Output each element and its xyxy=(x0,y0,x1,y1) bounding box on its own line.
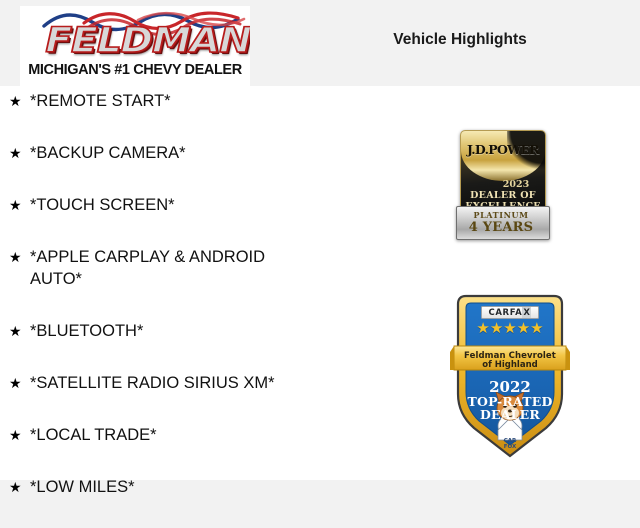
jd-power-year: 2023 xyxy=(461,179,545,190)
jd-power-line1: DEALER OF xyxy=(461,190,545,201)
star-bullet-icon: ★ xyxy=(9,424,22,446)
page-title: Vehicle Highlights xyxy=(330,31,590,49)
jd-power-badge: J.D.POWER 2023 DEALER OF EXCELLENCE PLAT… xyxy=(456,130,548,238)
award-badges: J.D.POWER 2023 DEALER OF EXCELLENCE PLAT… xyxy=(440,110,600,470)
list-item-label: *SATELLITE RADIO SIRIUS XM* xyxy=(30,372,340,394)
list-item: ★ *REMOTE START* xyxy=(0,90,340,142)
jd-power-wordmark: J.D.POWER xyxy=(461,142,545,157)
vehicle-highlights-page: FELDMAN MICHIGAN'S #1 CHEVY DEALER Vehic… xyxy=(0,0,640,480)
list-item-label: *BLUETOOTH* xyxy=(30,320,340,342)
header-band: FELDMAN MICHIGAN'S #1 CHEVY DEALER Vehic… xyxy=(0,0,640,86)
list-item: ★ *APPLE CARPLAY & ANDROID AUTO* xyxy=(0,246,340,320)
list-item-label: *TOUCH SCREEN* xyxy=(30,194,340,216)
star-bullet-icon: ★ xyxy=(9,372,22,394)
dealer-logo: FELDMAN MICHIGAN'S #1 CHEVY DEALER xyxy=(20,6,250,86)
list-item-label: *LOW MILES* xyxy=(30,476,340,498)
list-item-label: *BACKUP CAMERA* xyxy=(30,142,340,164)
logo-tagline: MICHIGAN'S #1 CHEVY DEALER xyxy=(20,62,250,78)
list-item: ★ *LOW MILES* xyxy=(0,476,340,528)
list-item: ★ *BACKUP CAMERA* xyxy=(0,142,340,194)
list-item: ★ *SATELLITE RADIO SIRIUS XM* xyxy=(0,372,340,424)
list-item: ★ *TOUCH SCREEN* xyxy=(0,194,340,246)
vehicle-highlights-list: ★ *REMOTE START* ★ *BACKUP CAMERA* ★ *TO… xyxy=(0,90,340,528)
list-item-label: *LOCAL TRADE* xyxy=(30,424,340,446)
carfax-shield-shape xyxy=(450,290,570,462)
carfax-badge: CARFAX ★★★★★ Feldman Chevrolet of Highla… xyxy=(450,290,570,462)
car-fox-mascot xyxy=(496,392,524,440)
list-item: ★ *LOCAL TRADE* xyxy=(0,424,340,476)
star-bullet-icon: ★ xyxy=(9,246,22,268)
star-bullet-icon: ★ xyxy=(9,320,22,342)
star-bullet-icon: ★ xyxy=(9,194,22,216)
logo-wordmark: FELDMAN xyxy=(26,22,250,60)
jd-power-banner-bottom: 4 YEARS xyxy=(457,220,545,235)
jd-power-banner: PLATINUM 4 YEARS xyxy=(456,206,550,240)
list-item: ★ *BLUETOOTH* xyxy=(0,320,340,372)
jd-power-banner-top: PLATINUM xyxy=(457,210,545,220)
list-item-label: *APPLE CARPLAY & ANDROID AUTO* xyxy=(30,246,308,290)
list-item-label: *REMOTE START* xyxy=(30,90,340,112)
star-bullet-icon: ★ xyxy=(9,476,22,498)
star-bullet-icon: ★ xyxy=(9,142,22,164)
star-bullet-icon: ★ xyxy=(9,90,22,112)
